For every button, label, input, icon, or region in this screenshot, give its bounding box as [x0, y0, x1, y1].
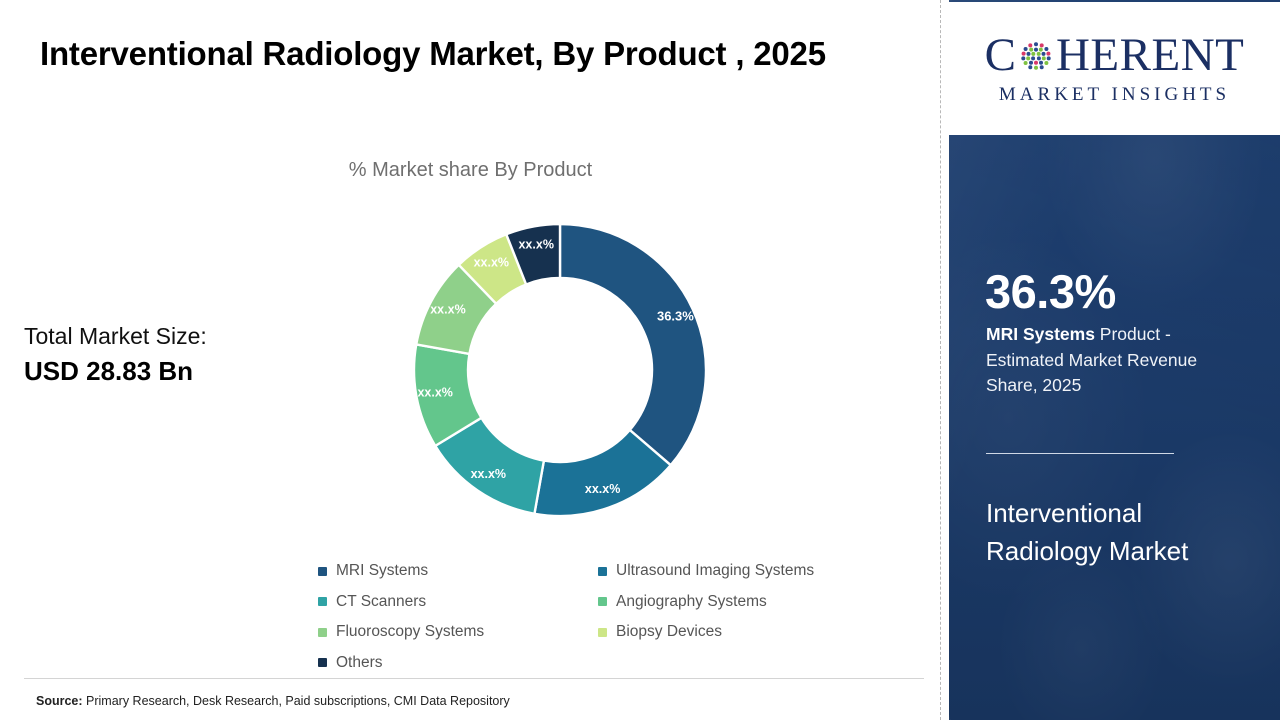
donut-slice — [560, 224, 706, 465]
legend-item-label: Fluoroscopy Systems — [336, 623, 484, 641]
chart-legend: MRI SystemsUltrasound Imaging SystemsCT … — [318, 556, 878, 678]
legend-color-swatch — [318, 597, 327, 606]
legend-item-label: Angiography Systems — [616, 593, 767, 611]
logo-letter-c: C — [985, 32, 1016, 79]
panel-divider — [940, 0, 942, 720]
legend-item: Ultrasound Imaging Systems — [598, 556, 878, 587]
legend-color-swatch — [598, 597, 607, 606]
brand-logo: C — [949, 2, 1280, 135]
legend-item: Angiography Systems — [598, 587, 878, 618]
legend-item-label: Others — [336, 654, 383, 672]
legend-item-label: MRI Systems — [336, 562, 428, 580]
legend-color-swatch — [318, 628, 327, 637]
donut-chart: 36.3%xx.x%xx.x%xx.x%xx.x%xx.x%xx.x% — [410, 212, 710, 528]
footer-divider — [24, 678, 924, 679]
total-market-size-block: Total Market Size: USD 28.83 Bn — [24, 322, 324, 389]
source-note: Source: Primary Research, Desk Research,… — [36, 694, 510, 708]
sidebar-panel: C — [949, 0, 1280, 720]
legend-item: CT Scanners — [318, 587, 598, 618]
logo-wordmark: C — [985, 32, 1245, 79]
logo-word-herent: HERENT — [1056, 32, 1244, 79]
highlight-description-bold: MRI Systems — [986, 324, 1095, 344]
legend-item-label: CT Scanners — [336, 593, 426, 611]
highlight-percentage: 36.3% — [985, 268, 1116, 315]
legend-item: MRI Systems — [318, 556, 598, 587]
donut-slice-label: xx.x% — [518, 238, 553, 252]
legend-color-swatch — [598, 628, 607, 637]
legend-color-swatch — [318, 658, 327, 667]
donut-slice-label: xx.x% — [474, 255, 509, 269]
donut-slice-label: 36.3% — [657, 308, 694, 323]
chart-subtitle: % Market share By Product — [0, 159, 941, 182]
donut-chart-svg: 36.3%xx.x%xx.x%xx.x%xx.x%xx.x%xx.x% — [410, 212, 710, 528]
sidebar-market-name: Interventional Radiology Market — [986, 494, 1226, 570]
legend-item: Others — [318, 648, 598, 679]
donut-slice-label: xx.x% — [430, 303, 465, 317]
donut-slice-group — [414, 224, 706, 516]
legend-color-swatch — [598, 567, 607, 576]
source-label: Source: — [36, 694, 83, 708]
donut-slice-label: xx.x% — [417, 386, 452, 400]
globe-icon — [1017, 38, 1055, 76]
logo-subtitle: MARKET INSIGHTS — [999, 84, 1230, 106]
infographic-page: Interventional Radiology Market, By Prod… — [0, 0, 1280, 720]
donut-slice-label: xx.x% — [585, 482, 620, 496]
legend-color-swatch — [318, 567, 327, 576]
main-panel: Interventional Radiology Market, By Prod… — [0, 0, 941, 720]
page-title: Interventional Radiology Market, By Prod… — [40, 30, 880, 79]
highlight-description: MRI Systems Product - Estimated Market R… — [986, 322, 1238, 399]
legend-item: Fluoroscopy Systems — [318, 617, 598, 648]
source-text: Primary Research, Desk Research, Paid su… — [86, 694, 510, 708]
donut-slice-label: xx.x% — [471, 467, 506, 481]
total-market-size-label: Total Market Size: — [24, 322, 324, 351]
legend-item-label: Ultrasound Imaging Systems — [616, 562, 814, 580]
sidebar-divider — [986, 453, 1174, 454]
legend-item: Biopsy Devices — [598, 617, 878, 648]
total-market-size-value: USD 28.83 Bn — [24, 355, 324, 388]
legend-item-label: Biopsy Devices — [616, 623, 722, 641]
